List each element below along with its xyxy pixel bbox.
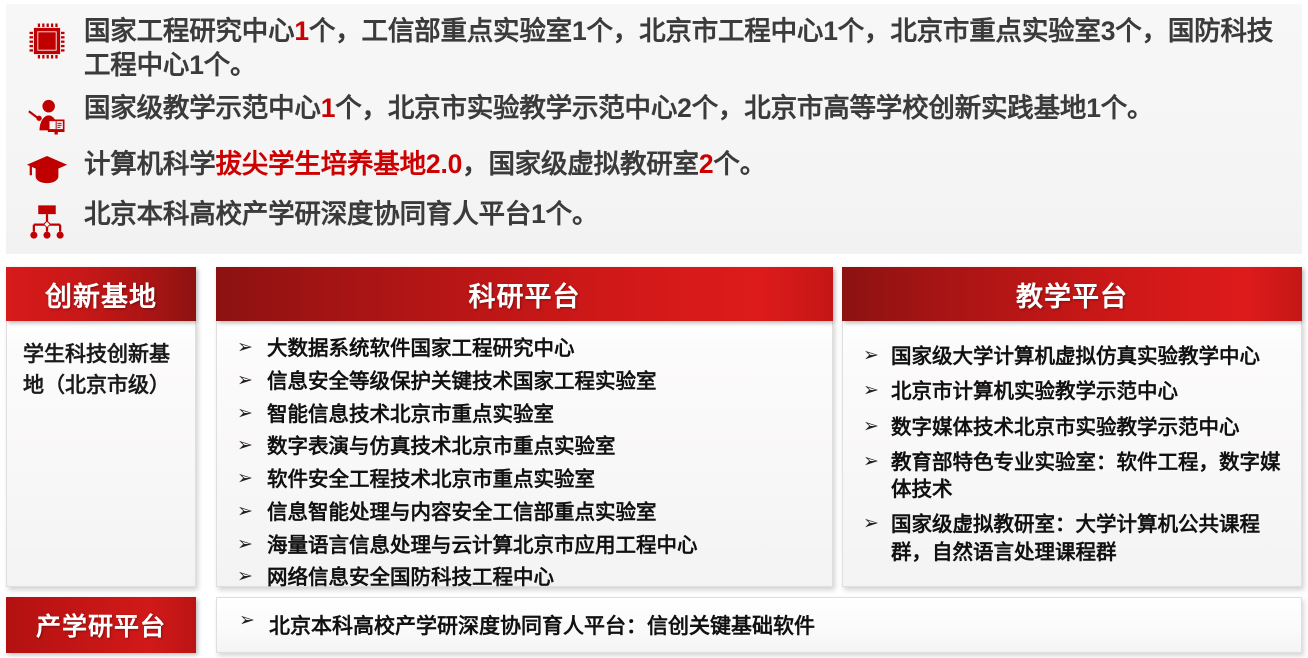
column-body-teaching-platform: ➢国家级大学计算机虚拟仿真实验教学中心 ➢北京市计算机实验教学示范中心 ➢数字媒…	[842, 321, 1302, 587]
teacher-presentation-icon	[10, 91, 84, 137]
column-body-innovation-base: 学生科技创新基地（北京市级）	[6, 321, 196, 587]
summary-seg: 北京本科高校产学研深度协同育人平台1个。	[84, 199, 598, 229]
list-item-label: 海量语言信息处理与云计算北京市应用工程中心	[267, 534, 698, 557]
list-item-label: 软件安全工程技术北京市重点实验室	[267, 468, 595, 491]
list-item-label: 北京市计算机实验教学示范中心	[891, 380, 1178, 403]
list-item: ➢教育部特色专业实验室：软件工程，数字媒体技术	[853, 449, 1291, 504]
summary-seg: 国家级教学示范中心	[84, 93, 321, 123]
arrow-bullet-icon: ➢	[239, 609, 255, 632]
column-body-research-platform: ➢大数据系统软件国家工程研究中心 ➢信息安全等级保护关键技术国家工程实验室 ➢智…	[216, 321, 833, 587]
summary-text: 北京本科高校产学研深度协同育人平台1个。	[84, 197, 1298, 231]
list-item-label: 大数据系统软件国家工程研究中心	[267, 337, 575, 360]
arrow-bullet-icon: ➢	[863, 343, 879, 368]
arrow-bullet-icon: ➢	[237, 433, 253, 458]
list-item: ➢数字表演与仿真技术北京市重点实验室	[227, 433, 822, 460]
summary-text: 计算机科学拔尖学生培养基地2.0，国家级虚拟教研室2个。	[84, 147, 1298, 181]
arrow-bullet-icon: ➢	[237, 466, 253, 491]
list-item: ➢数字媒体技术北京市实验教学示范中心	[853, 414, 1291, 441]
list-item-label: 国家级虚拟教研室：大学计算机公共课程群，自然语言处理课程群	[891, 513, 1260, 563]
arrow-bullet-icon: ➢	[237, 335, 253, 360]
list-item: ➢海量语言信息处理与云计算北京市应用工程中心	[227, 532, 822, 559]
list-item-label: 信息智能处理与内容安全工信部重点实验室	[267, 501, 657, 524]
list-item: ➢智能信息技术北京市重点实验室	[227, 401, 822, 428]
arrow-bullet-icon: ➢	[863, 511, 879, 536]
teaching-platform-list: ➢国家级大学计算机虚拟仿真实验教学中心 ➢北京市计算机实验教学示范中心 ➢数字媒…	[853, 343, 1291, 566]
list-item-label: 北京本科高校产学研深度协同育人平台：信创关键基础软件	[269, 615, 815, 638]
list-item-label: 信息安全等级保护关键技术国家工程实验室	[267, 370, 657, 393]
arrow-bullet-icon: ➢	[237, 401, 253, 426]
summary-seg-highlight: 1	[321, 93, 336, 123]
summary-row: 计算机科学拔尖学生培养基地2.0，国家级虚拟教研室2个。	[10, 147, 1298, 187]
arrow-bullet-icon: ➢	[863, 449, 879, 474]
platform-table: 创新基地 学生科技创新基地（北京市级） 科研平台 ➢大数据系统软件国家工程研究中…	[6, 267, 1302, 587]
industry-academia-content: ➢北京本科高校产学研深度协同育人平台：信创关键基础软件	[216, 597, 1302, 653]
list-item: ➢信息智能处理与内容安全工信部重点实验室	[227, 499, 822, 526]
summary-row: 国家工程研究中心1个，工信部重点实验室1个，北京市工程中心1个，北京市重点实验室…	[10, 14, 1298, 83]
list-item-label: 数字媒体技术北京市实验教学示范中心	[891, 416, 1240, 439]
arrow-bullet-icon: ➢	[863, 378, 879, 403]
list-item-label: 国家级大学计算机虚拟仿真实验教学中心	[891, 345, 1260, 368]
summary-text: 国家级教学示范中心1个，北京市实验教学示范中心2个，北京市高等学校创新实践基地1…	[84, 91, 1298, 125]
list-item-label: 智能信息技术北京市重点实验室	[267, 403, 554, 426]
summary-seg: 个，北京市实验教学示范中心2个，北京市高等学校创新实践基地1个。	[335, 93, 1153, 123]
chip-icon	[10, 14, 84, 62]
list-item: ➢大数据系统软件国家工程研究中心	[227, 335, 822, 362]
list-item: ➢信息安全等级保护关键技术国家工程实验室	[227, 368, 822, 395]
arrow-bullet-icon: ➢	[237, 499, 253, 524]
arrow-bullet-icon: ➢	[863, 414, 879, 439]
research-platform-list: ➢大数据系统软件国家工程研究中心 ➢信息安全等级保护关键技术国家工程实验室 ➢智…	[227, 335, 822, 592]
summary-seg-highlight: 1	[294, 16, 309, 46]
summary-seg-highlight: 拔尖学生培养基地2.0	[216, 149, 463, 179]
summary-row: 国家级教学示范中心1个，北京市实验教学示范中心2个，北京市高等学校创新实践基地1…	[10, 91, 1298, 137]
summary-seg: 国家工程研究中心	[84, 16, 294, 46]
list-item-label: 教育部特色专业实验室：软件工程，数字媒体技术	[891, 451, 1281, 501]
summary-row: 北京本科高校产学研深度协同育人平台1个。	[10, 197, 1298, 241]
list-item: ➢软件安全工程技术北京市重点实验室	[227, 466, 822, 493]
innovation-base-text: 学生科技创新基地（北京市级）	[23, 339, 179, 401]
column-header-teaching-platform: 教学平台	[842, 267, 1302, 321]
summary-seg: ，国家级虚拟教研室	[462, 149, 699, 179]
list-item: ➢北京本科高校产学研深度协同育人平台：信创关键基础软件	[229, 610, 815, 640]
summary-seg: 计算机科学	[84, 149, 216, 179]
summary-panel: 国家工程研究中心1个，工信部重点实验室1个，北京市工程中心1个，北京市重点实验室…	[6, 4, 1302, 254]
list-item: ➢国家级虚拟教研室：大学计算机公共课程群，自然语言处理课程群	[853, 511, 1291, 566]
column-header-innovation-base: 创新基地	[6, 267, 196, 321]
list-item: ➢网络信息安全国防科技工程中心	[227, 564, 822, 591]
summary-seg-highlight: 2	[699, 149, 714, 179]
graduation-cap-icon	[10, 147, 84, 187]
arrow-bullet-icon: ➢	[237, 368, 253, 393]
column-research-platform: 科研平台 ➢大数据系统软件国家工程研究中心 ➢信息安全等级保护关键技术国家工程实…	[216, 267, 833, 587]
arrow-bullet-icon: ➢	[237, 564, 253, 589]
summary-seg: 个。	[713, 149, 766, 179]
arrow-bullet-icon: ➢	[237, 532, 253, 557]
column-header-research-platform: 科研平台	[216, 267, 833, 321]
list-item-label: 数字表演与仿真技术北京市重点实验室	[267, 435, 616, 458]
industry-academia-label: 产学研平台	[6, 597, 196, 653]
column-innovation-base: 创新基地 学生科技创新基地（北京市级）	[6, 267, 196, 587]
list-item-label: 网络信息安全国防科技工程中心	[267, 566, 554, 589]
column-teaching-platform: 教学平台 ➢国家级大学计算机虚拟仿真实验教学中心 ➢北京市计算机实验教学示范中心…	[842, 267, 1302, 587]
list-item: ➢北京市计算机实验教学示范中心	[853, 378, 1291, 405]
org-chart-icon	[10, 197, 84, 241]
industry-academia-row: 产学研平台 ➢北京本科高校产学研深度协同育人平台：信创关键基础软件	[6, 597, 1302, 653]
summary-text: 国家工程研究中心1个，工信部重点实验室1个，北京市工程中心1个，北京市重点实验室…	[84, 14, 1298, 83]
list-item: ➢国家级大学计算机虚拟仿真实验教学中心	[853, 343, 1291, 370]
